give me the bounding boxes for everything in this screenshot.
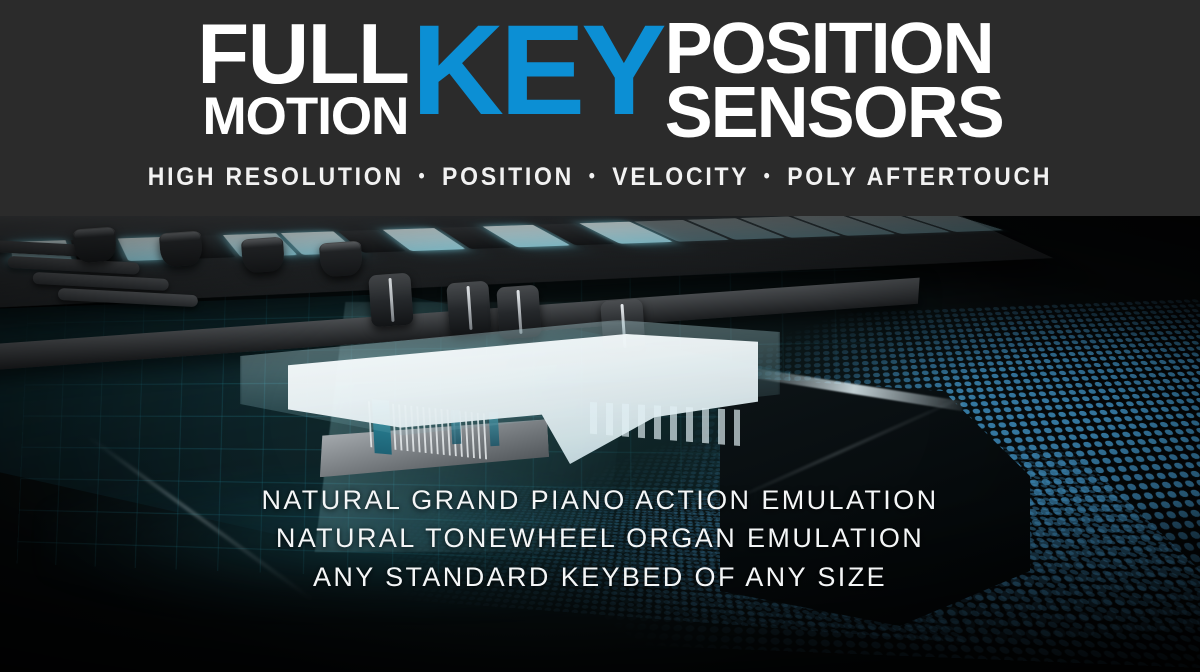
pad <box>58 288 198 307</box>
headline-word-full: FULL <box>197 18 408 91</box>
headline: FULL MOTION KEY POSITION SENSORS <box>0 16 1200 148</box>
subtitle-feature-list: HIGH RESOLUTION • POSITION • VELOCITY • … <box>48 163 1152 192</box>
knob <box>319 241 363 278</box>
pad <box>7 256 139 275</box>
subtitle-item: VELOCITY <box>612 163 749 191</box>
product-render-stage <box>0 216 1200 672</box>
subtitle-item: POSITION <box>442 163 574 191</box>
headline-word-key: KEY <box>411 16 662 126</box>
subtitle-separator-icon: • <box>764 166 773 188</box>
feature-line-1: NATURAL GRAND PIANO ACTION EMULATION <box>0 481 1200 519</box>
fader <box>368 273 414 328</box>
knob <box>73 227 117 264</box>
subtitle-separator-icon: • <box>419 166 428 188</box>
headline-word-motion: MOTION <box>202 92 408 143</box>
rubber-pads-group <box>0 216 259 327</box>
feature-line-2: NATURAL TONEWHEEL ORGAN EMULATION <box>0 519 1200 557</box>
knob <box>159 231 203 268</box>
subtitle-separator-icon: • <box>589 166 598 188</box>
promo-banner: FULL MOTION KEY POSITION SENSORS HIGH RE… <box>0 0 1200 672</box>
headline-left-stack: FULL MOTION <box>197 16 408 143</box>
header-band: FULL MOTION KEY POSITION SENSORS HIGH RE… <box>0 0 1200 216</box>
knob <box>241 237 285 274</box>
feature-lines: NATURAL GRAND PIANO ACTION EMULATION NAT… <box>0 481 1200 596</box>
fader <box>446 281 492 336</box>
headline-word-sensors: SENSORS <box>665 82 1003 145</box>
feature-line-3: ANY STANDARD KEYBED OF ANY SIZE <box>0 558 1200 596</box>
headline-right-stack: POSITION SENSORS <box>665 16 1003 144</box>
subtitle-item: POLY AFTERTOUCH <box>787 163 1052 191</box>
pad <box>33 272 169 291</box>
headline-word-position: POSITION <box>665 18 993 81</box>
subtitle-item: HIGH RESOLUTION <box>148 163 404 191</box>
